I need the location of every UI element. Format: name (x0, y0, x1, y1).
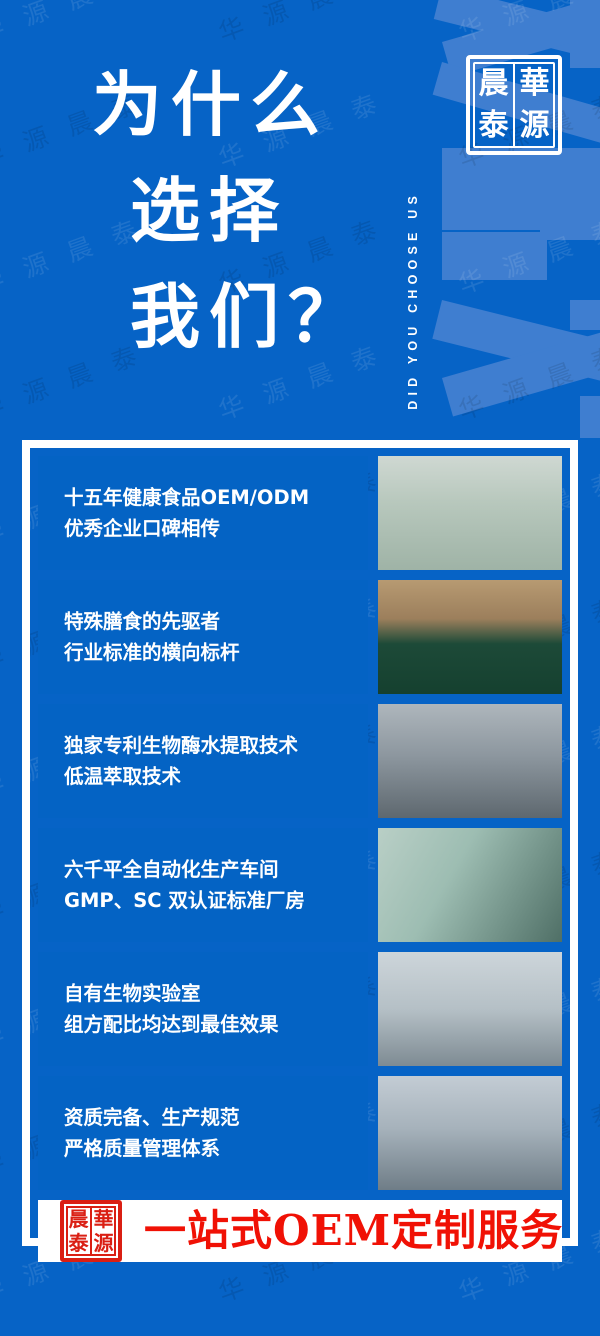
feature-line-1: 六千平全自动化生产车间 (64, 854, 342, 885)
feature-row[interactable]: 六千平全自动化生产车间GMP、SC 双认证标准厂房 (38, 828, 562, 942)
feature-line-1: 资质完备、生产规范 (64, 1102, 342, 1133)
feature-line-2: 严格质量管理体系 (64, 1133, 342, 1164)
feature-text-card: 独家专利生物酶水提取技术低温萃取技术 (38, 704, 368, 818)
banner-seal-char-hua: 華 (94, 1209, 114, 1229)
watermark-text: 华 源 晨 泰 (213, 0, 388, 49)
feature-photo-image (378, 828, 562, 942)
feature-text-card: 六千平全自动化生产车间GMP、SC 双认证标准厂房 (38, 828, 368, 942)
seal-char-chen: 晨 (479, 69, 509, 99)
vertical-english-subtitle: DID YOU CHOOSE US (400, 18, 426, 410)
banner-seal-char-tai: 泰 (69, 1233, 89, 1253)
feature-row[interactable]: 十五年健康食品OEM/ODM优秀企业口碑相传 (38, 456, 562, 570)
feature-line-1: 十五年健康食品OEM/ODM (64, 482, 342, 513)
seal-char-hua: 華 (520, 69, 550, 99)
feature-text-card: 十五年健康食品OEM/ODM优秀企业口碑相传 (38, 456, 368, 570)
feature-text-card: 特殊膳食的先驱者行业标准的横向标杆 (38, 580, 368, 694)
seal-right-column: 華 源 (515, 63, 554, 147)
feature-photo (378, 456, 562, 570)
feature-row[interactable]: 独家专利生物酶水提取技术低温萃取技术 (38, 704, 562, 818)
banner-seal-left-column: 晨 泰 (67, 1207, 92, 1255)
feature-photo (378, 1076, 562, 1190)
page-title: 为什么 选择 我们？ (92, 52, 392, 370)
page-title-line-2: 选择 (92, 158, 392, 264)
feature-line-2: 优秀企业口碑相传 (64, 513, 342, 544)
company-seal-icon: 晨 泰 華 源 (466, 55, 562, 155)
page-title-line-3: 我们？ (92, 264, 392, 370)
feature-line-1: 特殊膳食的先驱者 (64, 606, 342, 637)
vertical-english-subtitle-text: DID YOU CHOOSE US (406, 191, 420, 410)
feature-line-1: 自有生物实验室 (64, 978, 342, 1009)
feature-photo-image (378, 704, 562, 818)
feature-photo-image (378, 952, 562, 1066)
banner-seal-char-chen: 晨 (69, 1209, 89, 1229)
feature-row[interactable]: 自有生物实验室组方配比均达到最佳效果 (38, 952, 562, 1066)
features-list: 十五年健康食品OEM/ODM优秀企业口碑相传特殊膳食的先驱者行业标准的横向标杆独… (38, 456, 562, 1190)
feature-photo (378, 580, 562, 694)
features-panel: 十五年健康食品OEM/ODM优秀企业口碑相传特殊膳食的先驱者行业标准的横向标杆独… (22, 440, 578, 1246)
seal-char-yuan: 源 (520, 111, 550, 141)
feature-text-card: 自有生物实验室组方配比均达到最佳效果 (38, 952, 368, 1066)
bottom-banner: 晨 泰 華 源 一站式OEM定制服务 (38, 1200, 562, 1262)
feature-photo-image (378, 1076, 562, 1190)
feature-photo (378, 828, 562, 942)
seal-left-column: 晨 泰 (474, 63, 515, 147)
feature-line-1: 独家专利生物酶水提取技术 (64, 730, 342, 761)
feature-row[interactable]: 资质完备、生产规范严格质量管理体系 (38, 1076, 562, 1190)
feature-row[interactable]: 特殊膳食的先驱者行业标准的横向标杆 (38, 580, 562, 694)
page-title-line-1: 为什么 (92, 52, 392, 158)
banner-seal-right-column: 華 源 (92, 1207, 115, 1255)
feature-line-2: GMP、SC 双认证标准厂房 (64, 885, 342, 916)
feature-photo (378, 952, 562, 1066)
seal-char-tai: 泰 (479, 111, 509, 141)
banner-slogan: 一站式OEM定制服务 (144, 1210, 563, 1252)
feature-photo-image (378, 580, 562, 694)
feature-photo (378, 704, 562, 818)
watermark-text: 华 源 晨 泰 (0, 0, 147, 49)
feature-text-card: 资质完备、生产规范严格质量管理体系 (38, 1076, 368, 1190)
feature-line-2: 组方配比均达到最佳效果 (64, 1009, 342, 1040)
feature-photo-image (378, 456, 562, 570)
banner-seal-char-yuan: 源 (94, 1233, 114, 1253)
feature-line-2: 低温萃取技术 (64, 761, 342, 792)
banner-seal-icon: 晨 泰 華 源 (60, 1200, 122, 1262)
feature-line-2: 行业标准的横向标杆 (64, 637, 342, 668)
